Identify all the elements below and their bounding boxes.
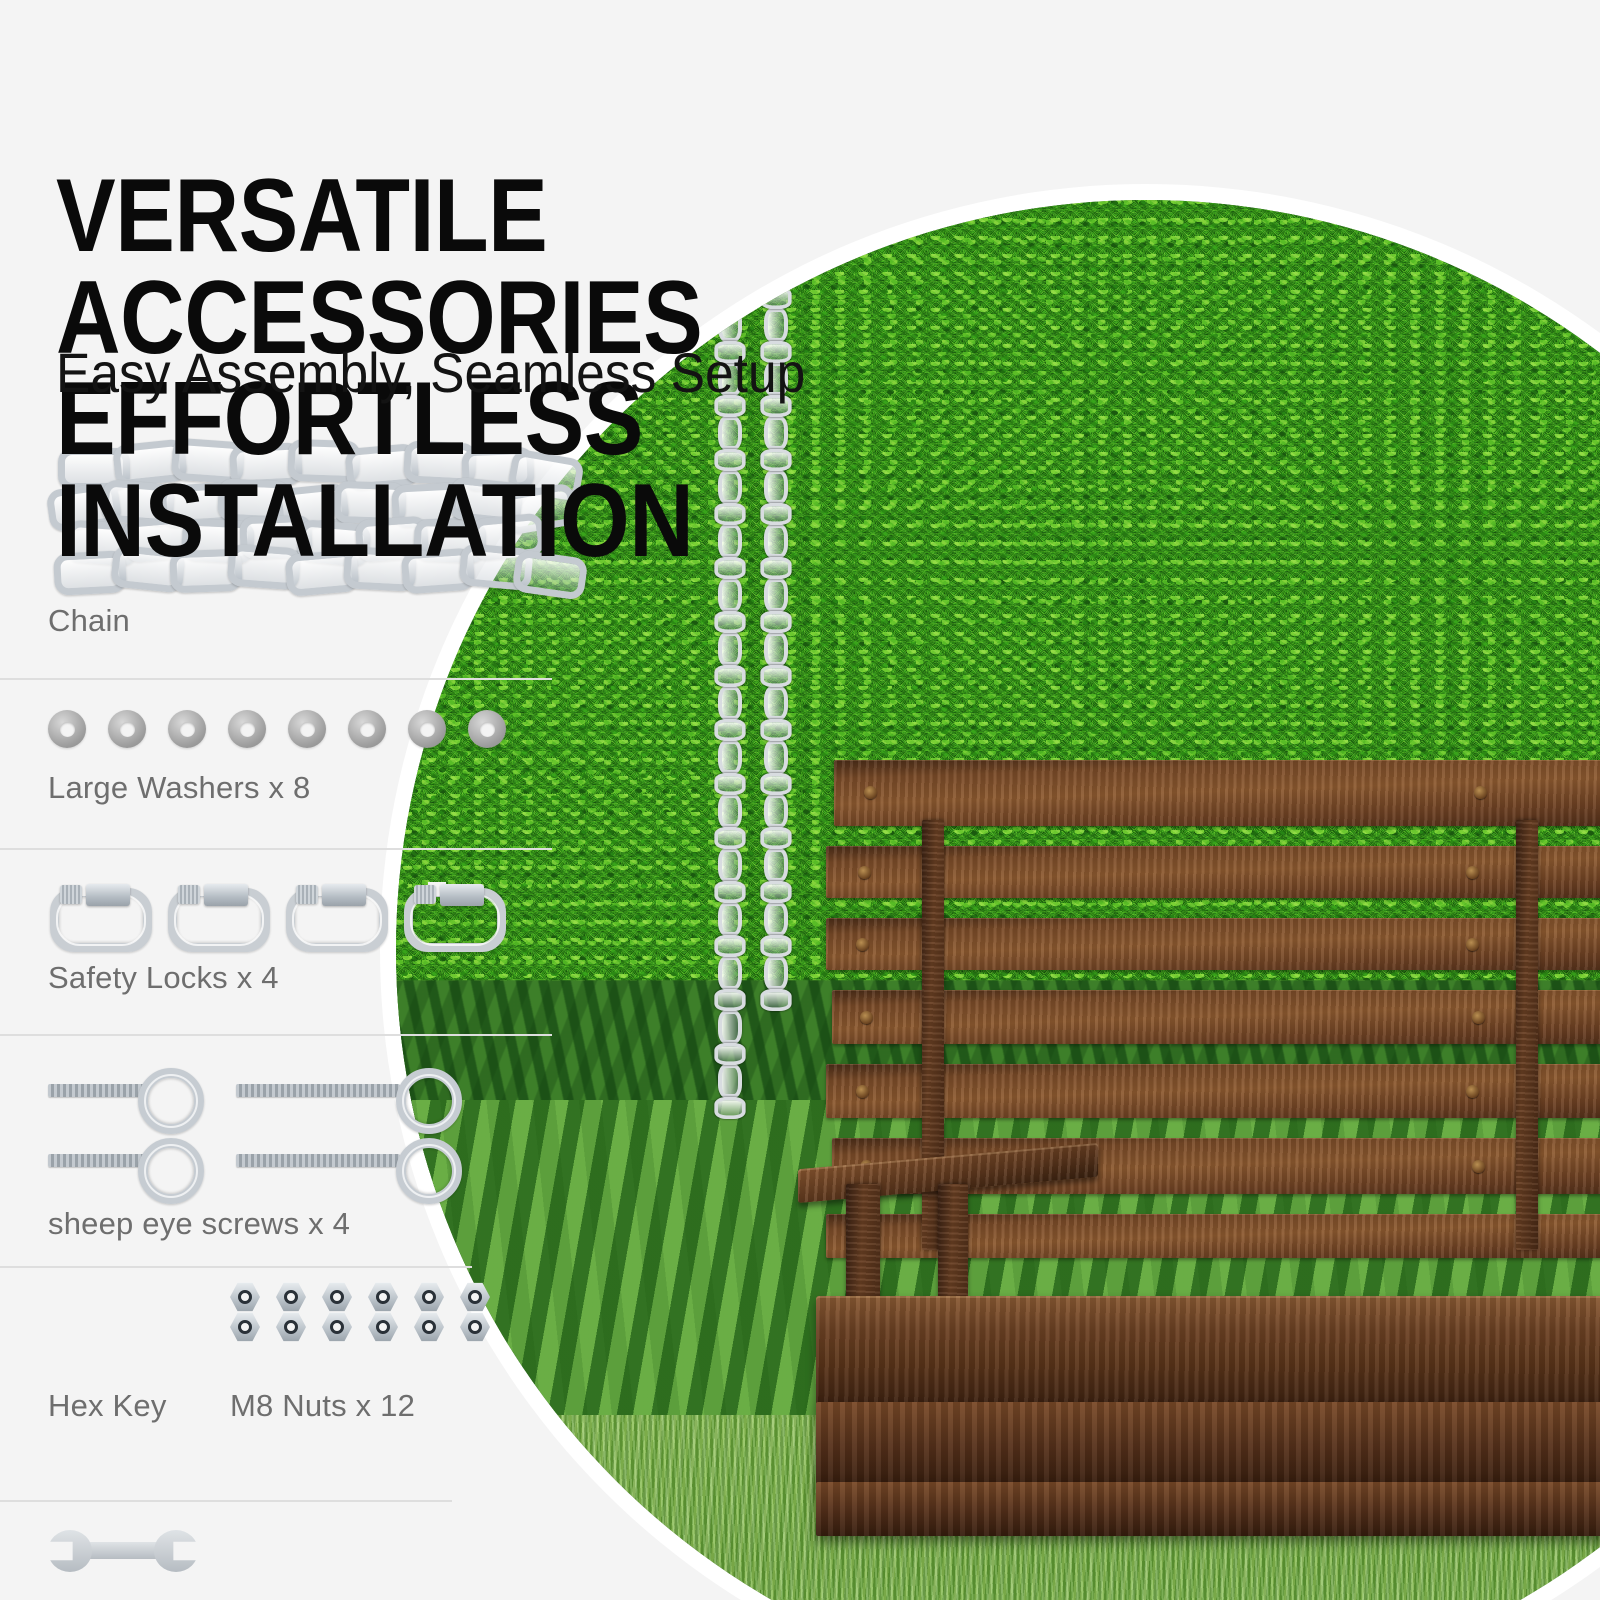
chain-link-icon bbox=[764, 632, 788, 666]
chain-link-icon bbox=[714, 1097, 745, 1119]
washer-icon bbox=[108, 710, 146, 748]
chain-link-icon bbox=[764, 956, 788, 990]
chain-link-icon bbox=[764, 794, 788, 828]
hex-nut-icon bbox=[276, 1312, 306, 1342]
list-item: Open-end Wrench bbox=[0, 1500, 600, 1600]
hex-nut-icon bbox=[322, 1282, 352, 1312]
backrest-slat bbox=[832, 990, 1600, 1044]
washer-icon bbox=[408, 710, 446, 748]
chain-link-icon bbox=[760, 989, 791, 1011]
hex-nut-icon bbox=[414, 1312, 444, 1342]
hexkey-nuts-icon-group bbox=[48, 1266, 600, 1388]
chain-link-icon bbox=[714, 773, 745, 795]
subtitle: Easy Assembly, Seamless Setup bbox=[56, 344, 805, 403]
chain-link-icon bbox=[718, 1064, 742, 1098]
chain-link-icon bbox=[718, 902, 742, 936]
washer-icon-group bbox=[48, 678, 600, 748]
eye-screw-icon bbox=[236, 1062, 458, 1120]
marketing-banner: VERSATILE ACCESSORIES EFFORTLESS INSTALL… bbox=[0, 0, 1600, 1600]
chain-link-icon bbox=[714, 935, 745, 957]
chain-link-icon bbox=[760, 773, 791, 795]
eye-screw-icon bbox=[236, 1132, 458, 1190]
list-item: Safety Locks x 4 bbox=[0, 848, 600, 1034]
open-end-wrench-icon bbox=[48, 1500, 600, 1578]
accessory-label: sheep eye screws x 4 bbox=[48, 1206, 600, 1242]
chain-link-icon bbox=[718, 794, 742, 828]
list-item: sheep eye screws x 4 bbox=[0, 1034, 600, 1266]
washer-icon bbox=[288, 710, 326, 748]
chain-link-icon bbox=[764, 686, 788, 720]
washer-icon bbox=[48, 710, 86, 748]
chain-link-icon bbox=[714, 719, 745, 741]
hex-nut-icon bbox=[368, 1312, 398, 1342]
chain-link-icon bbox=[714, 665, 745, 687]
list-item: Large Washers x 8 bbox=[0, 678, 600, 848]
chain-link-icon bbox=[718, 686, 742, 720]
hex-nut-icon bbox=[230, 1312, 260, 1342]
hex-nut-icon bbox=[460, 1282, 490, 1312]
chain-link-icon bbox=[760, 719, 791, 741]
chain-link-icon bbox=[760, 935, 791, 957]
chain-link-icon bbox=[718, 848, 742, 882]
hex-nut-icon bbox=[460, 1312, 490, 1342]
washer-icon bbox=[348, 710, 386, 748]
quick-link-icon-group bbox=[48, 848, 600, 940]
chain-link-icon bbox=[718, 1010, 742, 1044]
washer-icon bbox=[468, 710, 506, 748]
accessory-label: Safety Locks x 4 bbox=[48, 960, 600, 996]
quick-link-icon bbox=[284, 882, 376, 940]
quick-link-icon bbox=[48, 882, 140, 940]
chain-link-icon bbox=[760, 881, 791, 903]
hex-nut-icon bbox=[230, 1282, 260, 1312]
accessory-list: Chain Large Washers x 8 Safety Locks x 4 bbox=[0, 430, 600, 1600]
list-item: Hex Key M8 Nuts x 12 bbox=[0, 1266, 600, 1456]
seat-bottom-rail bbox=[816, 1482, 1600, 1536]
porch-swing bbox=[826, 760, 1600, 1600]
quick-link-icon bbox=[402, 882, 494, 940]
chain-link-icon bbox=[764, 848, 788, 882]
hex-nut-icon bbox=[414, 1282, 444, 1312]
chain-link-icon bbox=[718, 578, 742, 612]
hex-nut-icon-group bbox=[230, 1282, 530, 1342]
chain-link-icon bbox=[718, 740, 742, 774]
chain-link-icon bbox=[714, 827, 745, 849]
eye-screw-icon bbox=[48, 1132, 198, 1190]
chain-link-icon bbox=[714, 881, 745, 903]
washer-icon bbox=[168, 710, 206, 748]
hex-key-icon bbox=[42, 1294, 154, 1356]
hex-nut-icon bbox=[276, 1282, 306, 1312]
seat-front-apron bbox=[816, 1402, 1600, 1488]
chain-link-icon bbox=[718, 956, 742, 990]
hex-nut-icon bbox=[368, 1282, 398, 1312]
chain-link-icon bbox=[714, 1043, 745, 1065]
seat-surface bbox=[816, 1296, 1600, 1408]
chain-link-icon bbox=[764, 578, 788, 612]
accessory-label: Large Washers x 8 bbox=[48, 770, 600, 806]
chain-link-icon bbox=[760, 827, 791, 849]
accessory-label: Chain bbox=[48, 603, 600, 639]
washer-icon bbox=[228, 710, 266, 748]
chain-link-icon bbox=[714, 989, 745, 1011]
chain-link-icon bbox=[714, 611, 745, 633]
accessory-label: Hex Key bbox=[48, 1388, 167, 1424]
accessory-label: M8 Nuts x 12 bbox=[230, 1388, 415, 1424]
hex-nut-icon bbox=[322, 1312, 352, 1342]
chain-link-icon bbox=[764, 902, 788, 936]
eye-screw-icon-group bbox=[48, 1034, 600, 1200]
chain-link-icon bbox=[718, 632, 742, 666]
quick-link-icon bbox=[166, 882, 258, 940]
backrest-slat bbox=[834, 760, 1600, 826]
chain-link-icon bbox=[760, 611, 791, 633]
chain-link-icon bbox=[764, 740, 788, 774]
chain-link-icon bbox=[760, 665, 791, 687]
backrest-support bbox=[1516, 820, 1538, 1250]
eye-screw-icon bbox=[48, 1062, 198, 1120]
